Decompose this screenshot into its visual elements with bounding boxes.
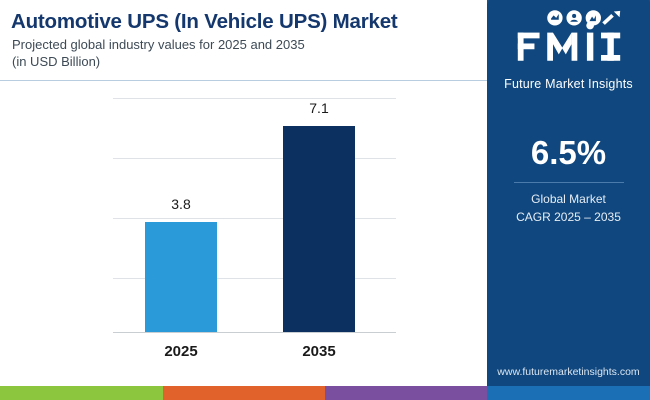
infographic-root: Automotive UPS (In Vehicle UPS) Market P…	[0, 0, 650, 400]
website-url[interactable]: www.futuremarketinsights.com	[487, 366, 650, 378]
page-subtitle: Projected global industry values for 202…	[12, 36, 472, 70]
bar-chart: 3.8 2025 7.1 2035	[0, 82, 487, 386]
gridline	[113, 98, 396, 99]
footer-color-stripe	[0, 386, 650, 400]
logo-block: Future Market Insights	[487, 8, 650, 91]
cagr-value: 6.5%	[487, 134, 650, 172]
fmi-logo-icon	[505, 8, 633, 70]
cagr-divider	[514, 182, 624, 183]
cagr-caption-line-2: CAGR 2025 – 2035	[487, 208, 650, 226]
bar-value-2025: 3.8	[136, 196, 226, 212]
category-label-2035: 2035	[259, 343, 379, 360]
bar-2025	[145, 222, 217, 332]
left-panel: Automotive UPS (In Vehicle UPS) Market P…	[0, 0, 487, 386]
cagr-caption: Global Market CAGR 2025 – 2035	[487, 190, 650, 226]
category-label-2025: 2025	[121, 343, 241, 360]
x-axis-line	[113, 332, 396, 333]
stripe-orange	[163, 386, 325, 400]
header-divider	[0, 80, 487, 81]
cagr-caption-line-1: Global Market	[487, 190, 650, 208]
bar-2035	[283, 126, 355, 332]
logo-text: Future Market Insights	[487, 77, 650, 91]
stripe-blue	[487, 386, 650, 400]
subtitle-line-1: Projected global industry values for 202…	[12, 36, 472, 53]
bar-value-2035: 7.1	[274, 100, 364, 116]
stripe-purple	[325, 386, 487, 400]
stripe-green	[0, 386, 163, 400]
subtitle-line-2: (in USD Billion)	[12, 53, 472, 70]
brand-panel: Future Market Insights 6.5% Global Marke…	[487, 0, 650, 386]
page-title: Automotive UPS (In Vehicle UPS) Market	[11, 10, 481, 34]
